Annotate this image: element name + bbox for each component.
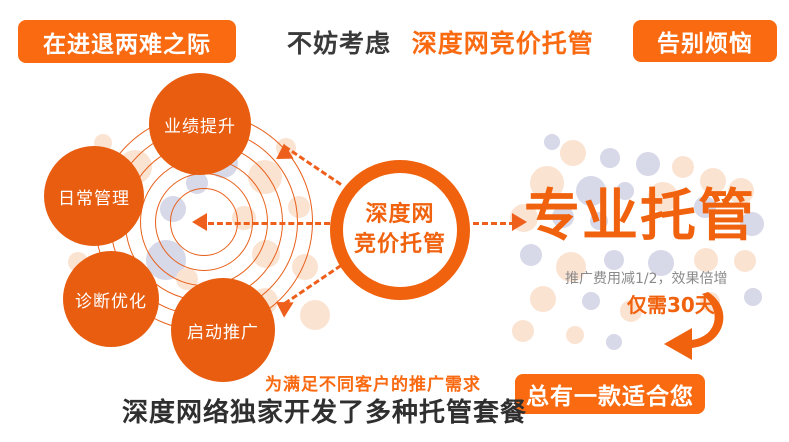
center-node-line2: 竞价托管 (354, 230, 446, 260)
header-line: 不妨考虑 深度网竞价托管 (287, 28, 594, 60)
center-node-line1: 深度网 (365, 200, 434, 230)
feature-circle-label: 业绩提升 (164, 112, 236, 137)
badge-bottom[interactable]: 总有一款适合您 (515, 374, 705, 414)
right-panel-subtitle-gray: 推广费用减1/2，效果倍增 (565, 268, 728, 288)
feature-circle-2[interactable]: 诊断优化 (63, 251, 159, 347)
header-orange-text: 深度网竞价托管 (412, 29, 594, 58)
feature-circle-3[interactable]: 启动推广 (171, 278, 275, 382)
center-node-label[interactable]: 深度网 竞价托管 (330, 160, 470, 300)
feature-circle-1[interactable]: 日常管理 (44, 146, 144, 246)
banner-canvas: 业绩提升 日常管理 诊断优化 启动推广 深度网 竞价托管 专业托管 推广费用减1… (0, 0, 789, 442)
badge-left-label: 在进退两难之际 (43, 25, 211, 59)
feature-circle-label: 日常管理 (58, 184, 130, 209)
badge-left[interactable]: 在进退两难之际 (18, 20, 236, 63)
feature-circle-0[interactable]: 业绩提升 (149, 73, 251, 175)
right-panel-title: 专业托管 (524, 188, 756, 246)
curved-arrow-down-left-icon (630, 292, 730, 354)
bottom-dark-line: 深度网络独家开发了多种托管套餐 (122, 392, 527, 429)
badge-bottom-label: 总有一款适合您 (526, 377, 694, 411)
feature-circle-label: 诊断优化 (75, 287, 147, 312)
feature-circle-label: 启动推广 (187, 318, 259, 343)
badge-right[interactable]: 告别烦恼 (633, 20, 777, 62)
badge-right-label: 告别烦恼 (657, 24, 753, 58)
header-dark-text: 不妨考虑 (287, 29, 391, 58)
